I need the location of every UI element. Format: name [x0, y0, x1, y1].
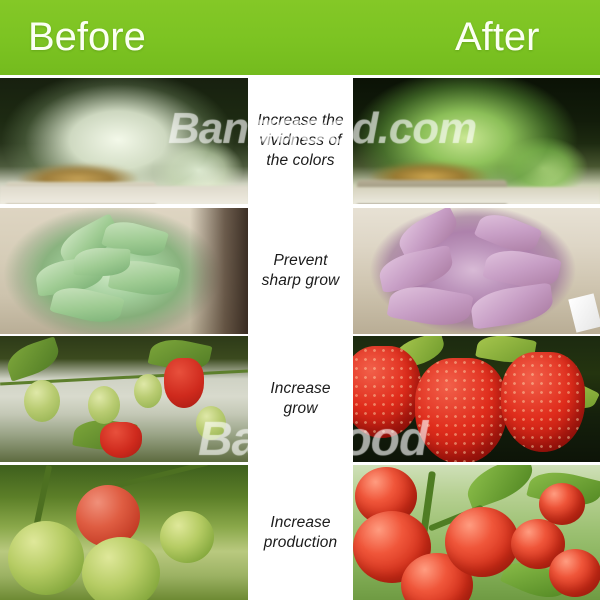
caption-text-row-3: Increase grow	[248, 379, 353, 419]
seed-texture	[353, 346, 421, 438]
caption-text-row-4: Increase production	[248, 513, 353, 553]
ripe-berry	[501, 352, 585, 452]
ledge-decor	[0, 186, 248, 204]
before-image-row-2	[0, 208, 248, 334]
after-image-row-4	[353, 465, 600, 600]
caption-text-row-2: Prevent sharp grow	[248, 251, 353, 291]
red-tomato	[549, 549, 600, 597]
unripe-berry	[24, 380, 60, 422]
after-image-row-3	[353, 336, 600, 462]
ripe-berry	[415, 358, 507, 462]
caption-cell-row-3: Increase grow	[248, 336, 353, 462]
pale-succulent-photo	[0, 78, 248, 204]
before-image-row-4	[0, 465, 248, 600]
header-label-before: Before	[28, 14, 146, 60]
after-image-row-2	[353, 208, 600, 334]
ledge-decor	[353, 187, 600, 204]
green-tomato	[82, 537, 160, 600]
green-rosette-photo	[0, 208, 248, 334]
unripe-berry	[196, 406, 226, 440]
header-label-after: After	[455, 14, 539, 60]
caption-cell-row-1: Increase the vividness of the colors	[248, 78, 353, 204]
ripe-strawberry-photo	[353, 336, 600, 462]
header-bar: Before After	[0, 0, 600, 75]
plant-tag-decor	[568, 293, 600, 332]
before-image-row-1	[0, 78, 248, 204]
petal-decor	[469, 282, 555, 329]
green-tomato	[160, 511, 214, 563]
ripening-berry	[164, 358, 204, 408]
unripe-berry	[88, 386, 120, 424]
caption-text-row-1: Increase the vividness of the colors	[248, 111, 353, 171]
shadow-decor	[190, 208, 248, 334]
caption-cell-row-4: Increase production	[248, 465, 353, 600]
green-tomato-photo	[0, 465, 248, 600]
after-image-row-1	[353, 78, 600, 204]
ripe-berry	[353, 346, 421, 438]
seed-texture	[415, 358, 507, 462]
red-tomato	[539, 483, 585, 525]
ripening-berry	[100, 422, 142, 458]
unripe-berry	[134, 374, 162, 408]
purple-rosette-photo	[353, 208, 600, 334]
green-tomato	[8, 521, 84, 595]
unripe-strawberry-photo	[0, 336, 248, 462]
before-image-row-3	[0, 336, 248, 462]
product-comparison-infographic: Before After Increase the vividness of t…	[0, 0, 600, 600]
seed-texture	[501, 352, 585, 452]
vine-decor	[34, 465, 52, 525]
red-tomato	[445, 507, 519, 577]
leaf-decor	[3, 336, 64, 381]
vivid-succulent-photo	[353, 78, 600, 204]
red-tomato-photo	[353, 465, 600, 600]
caption-cell-row-2: Prevent sharp grow	[248, 208, 353, 334]
petal-decor	[386, 281, 473, 331]
